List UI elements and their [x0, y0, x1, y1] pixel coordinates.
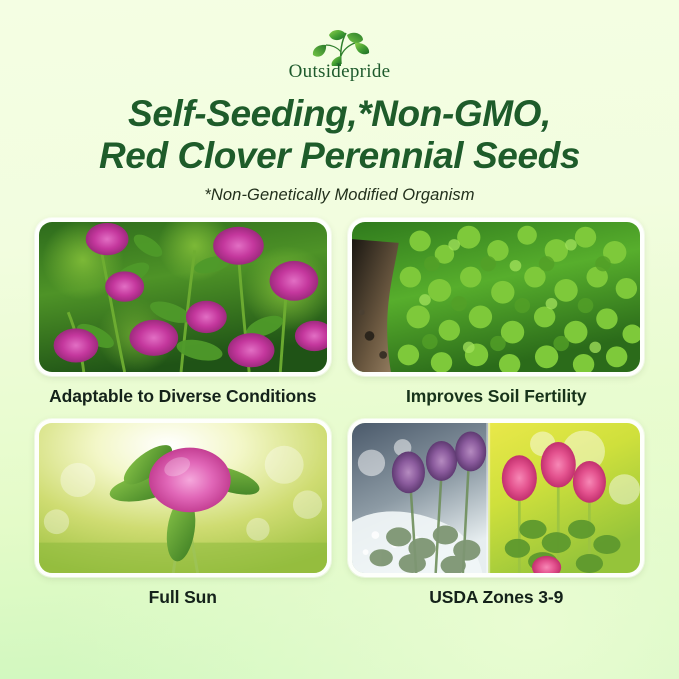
brand-logo: Outsidepride — [0, 26, 679, 81]
feature-caption: Improves Soil Fertility — [406, 386, 587, 407]
headline-line-2: Red Clover Perennial Seeds — [0, 135, 679, 177]
brand-wordmark: Outsidepride — [289, 62, 391, 81]
headline-line-1: Self-Seeding,*Non-GMO, — [128, 93, 551, 134]
clover-cold-and-warm-split-photo — [348, 419, 644, 577]
feature-caption: USDA Zones 3-9 — [429, 587, 563, 608]
red-clover-flowers-field-photo — [35, 218, 331, 376]
feature-caption: Full Sun — [149, 587, 217, 608]
page-title: Self-Seeding,*Non-GMO, Red Clover Perenn… — [0, 93, 679, 177]
headline-footnote: *Non-Genetically Modified Organism — [0, 186, 679, 205]
single-clover-bloom-sunlight-photo — [35, 419, 331, 577]
poster-header: Outsidepride Self-Seeding,*Non-GMO, Red … — [0, 0, 679, 205]
feature-cell: Improves Soil Fertility — [340, 218, 654, 407]
feature-cell: Full Sun — [26, 419, 340, 608]
feature-caption: Adaptable to Diverse Conditions — [49, 386, 316, 407]
feature-cell: USDA Zones 3-9 — [340, 419, 654, 608]
feature-cell: Adaptable to Diverse Conditions — [26, 218, 340, 407]
leaf-sprig-icon — [285, 26, 395, 66]
feature-grid: Adaptable to Diverse Conditions — [0, 218, 679, 608]
clover-ground-cover-soil-photo — [348, 218, 644, 376]
product-infographic: Outsidepride Self-Seeding,*Non-GMO, Red … — [0, 0, 679, 679]
